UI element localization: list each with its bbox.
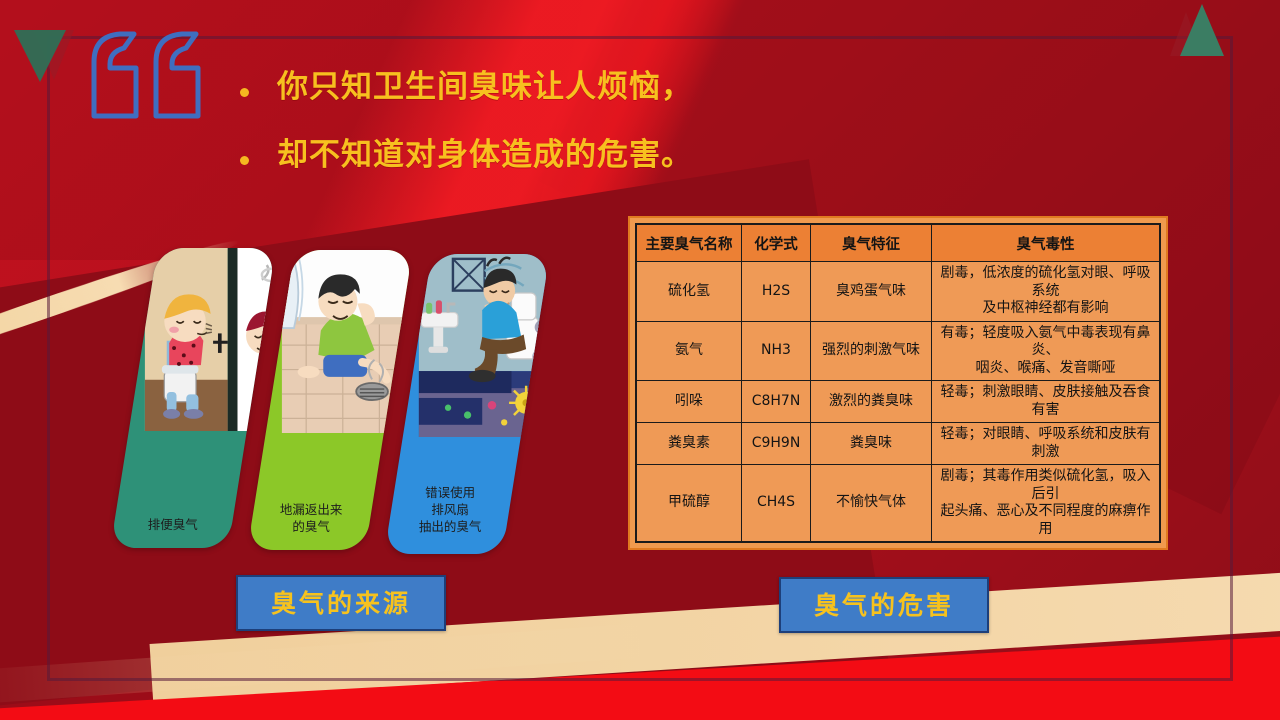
triangle-top-left-icon xyxy=(14,30,66,82)
cell-character: 粪臭味 xyxy=(811,423,932,465)
cell-name: 粪臭素 xyxy=(636,423,742,465)
cell-formula: CH4S xyxy=(742,465,811,543)
table-row: 粪臭素 C9H9N 粪臭味 轻毒；对眼睛、呼吸系统和皮肤有刺激 xyxy=(636,423,1160,465)
cell-toxicity: 剧毒；其毒作用类似硫化氢，吸入后引 起头痛、恶心及不同程度的麻痹作用 xyxy=(932,465,1161,543)
cell-toxicity: 轻毒；刺激眼睛、皮肤接触及吞食有害 xyxy=(932,381,1161,423)
table-header-row: 主要臭气名称 化学式 臭气特征 臭气毒性 xyxy=(636,224,1160,262)
floor-drain-odor-icon xyxy=(282,250,413,423)
quote-open-icon xyxy=(86,28,216,118)
bg-red-strip-bottom-left xyxy=(0,654,504,720)
cell-character: 强烈的刺激气味 xyxy=(811,321,932,381)
bg-cream-band-bottom-left xyxy=(0,624,640,707)
toilet-odor-icon xyxy=(145,248,276,421)
cell-toxicity: 轻毒；对眼睛、呼吸系统和皮肤有刺激 xyxy=(932,423,1161,465)
odor-toxicity-table: 主要臭气名称 化学式 臭气特征 臭气毒性 硫化氢 H2S 臭鸡蛋气味 剧毒，低浓… xyxy=(635,223,1161,543)
odor-panel-defecation[interactable]: 排便臭气 xyxy=(110,248,276,548)
odor-panel-caption-3: 错误使用 排风扇 抽出的臭气 xyxy=(391,485,509,536)
cell-character: 不愉快气体 xyxy=(811,465,932,543)
cell-character: 臭鸡蛋气味 xyxy=(811,262,932,322)
section-label-odor-harm[interactable]: 臭气的危害 xyxy=(779,577,989,633)
cell-formula: C8H7N xyxy=(742,381,811,423)
cell-name: 吲哚 xyxy=(636,381,742,423)
triangle-top-right-icon xyxy=(1180,4,1224,56)
cell-name: 氨气 xyxy=(636,321,742,381)
cell-name: 硫化氢 xyxy=(636,262,742,322)
headline-text-1: 你只知卫生间臭味让人烦恼， xyxy=(277,70,693,104)
headline-block: 你只知卫生间臭味让人烦恼， 却不知道对身体造成的危害。 xyxy=(240,70,840,206)
slide-canvas: 你只知卫生间臭味让人烦恼， 却不知道对身体造成的危害。 xyxy=(0,0,1280,720)
cell-toxicity: 剧毒，低浓度的硫化氢对眼、呼吸系统 及中枢神经都有影响 xyxy=(932,262,1161,322)
cell-formula: NH3 xyxy=(742,321,811,381)
exhaust-fan-odor-icon xyxy=(419,254,550,427)
table-row: 硫化氢 H2S 臭鸡蛋气味 剧毒，低浓度的硫化氢对眼、呼吸系统 及中枢神经都有影… xyxy=(636,262,1160,322)
table-header-toxicity: 臭气毒性 xyxy=(932,224,1161,262)
table-header-name: 主要臭气名称 xyxy=(636,224,742,262)
odor-panel-exhaust-fan[interactable]: 错误使用 排风扇 抽出的臭气 xyxy=(384,254,550,554)
odor-panel-caption-2: 地漏返出来 的臭气 xyxy=(252,502,370,536)
cell-formula: H2S xyxy=(742,262,811,322)
bullet-dot-icon xyxy=(240,156,249,165)
cell-name: 甲硫醇 xyxy=(636,465,742,543)
table-row: 氨气 NH3 强烈的刺激气味 有毒；轻度吸入氨气中毒表现有鼻炎、 咽炎、喉痛、发… xyxy=(636,321,1160,381)
table-header-formula: 化学式 xyxy=(742,224,811,262)
bullet-dot-icon xyxy=(240,88,249,97)
odor-toxicity-table-container: 主要臭气名称 化学式 臭气特征 臭气毒性 硫化氢 H2S 臭鸡蛋气味 剧毒，低浓… xyxy=(628,216,1168,550)
section-label-odor-source[interactable]: 臭气的来源 xyxy=(236,575,446,631)
odor-source-panels: 排便臭气 xyxy=(128,242,538,562)
headline-bullet-2: 却不知道对身体造成的危害。 xyxy=(240,138,840,172)
odor-panel-floor-drain[interactable]: 地漏返出来 的臭气 xyxy=(247,250,413,550)
table-row: 甲硫醇 CH4S 不愉快气体 剧毒；其毒作用类似硫化氢，吸入后引 起头痛、恶心及… xyxy=(636,465,1160,543)
headline-text-2: 却不知道对身体造成的危害。 xyxy=(277,138,693,172)
headline-bullet-1: 你只知卫生间臭味让人烦恼， xyxy=(240,70,840,104)
cell-formula: C9H9N xyxy=(742,423,811,465)
table-row: 吲哚 C8H7N 激烈的粪臭味 轻毒；刺激眼睛、皮肤接触及吞食有害 xyxy=(636,381,1160,423)
cell-character: 激烈的粪臭味 xyxy=(811,381,932,423)
odor-panel-caption-1: 排便臭气 xyxy=(114,517,232,534)
cell-toxicity: 有毒；轻度吸入氨气中毒表现有鼻炎、 咽炎、喉痛、发音嘶哑 xyxy=(932,321,1161,381)
bg-red-strip-bottom xyxy=(0,632,1280,720)
table-header-character: 臭气特征 xyxy=(811,224,932,262)
